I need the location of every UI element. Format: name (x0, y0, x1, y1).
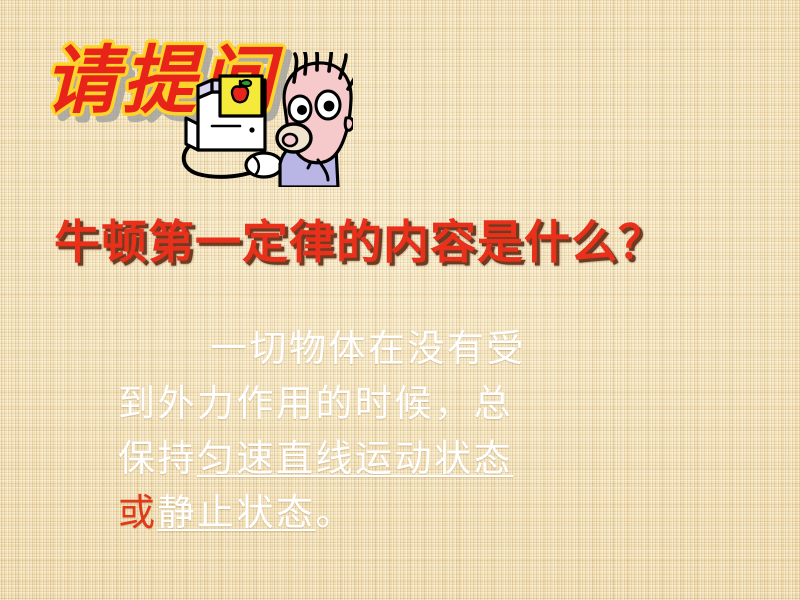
answer-segment: 到外力作用的时候，总 (118, 382, 513, 425)
answer-line-3: 保持匀速直线运动状态 (118, 432, 678, 487)
answer-line-1: 一切物体在没有受 (118, 322, 678, 377)
computer-side-panel (186, 118, 198, 150)
question-heading: 牛顿第一定律的内容是什么？ (54, 218, 754, 268)
answer-segment: 一切物体在没有受 (210, 327, 526, 370)
answer-line-2: 到外力作用的时候，总 (118, 377, 678, 432)
boy-at-computer-illustration (168, 52, 353, 187)
answer-segment-highlight: 或 (118, 491, 158, 534)
answer-line-4: 或静止状态。 (118, 486, 678, 541)
computer-power-light (249, 127, 254, 132)
ear (345, 118, 353, 131)
left-pupil (297, 105, 307, 115)
answer-segment-underlined: 静止状态 (158, 491, 316, 534)
answer-paragraph: 一切物体在没有受 到外力作用的时候，总 保持匀速直线运动状态 或静止状态。 (118, 322, 678, 541)
answer-segment-underlined: 匀速直线运动状态 (197, 437, 513, 480)
tongue (283, 134, 297, 146)
apple-leaf-icon (240, 80, 251, 86)
slide-canvas: 请提问 请提问 请提问 (0, 0, 800, 600)
computer-mouse (246, 153, 282, 177)
answer-segment: 保持 (118, 437, 197, 480)
right-pupil (324, 101, 335, 112)
apple-icon (232, 87, 248, 103)
answer-segment: 。 (316, 491, 356, 534)
